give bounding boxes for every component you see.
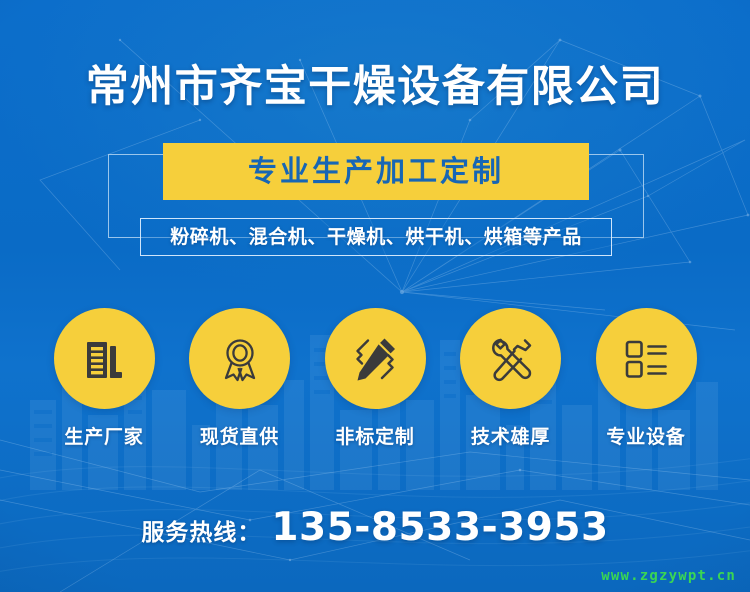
- wrench-hammer-icon: [484, 332, 538, 386]
- feature-circle: [596, 308, 697, 409]
- hotline-number[interactable]: 135-8533-3953: [271, 508, 608, 547]
- company-title-wrap: 常州市齐宝干燥设备有限公司: [0, 66, 750, 109]
- slogan-text: 专业生产加工定制: [248, 157, 504, 186]
- feature-circle: [325, 308, 426, 409]
- feature-circle: [460, 308, 561, 409]
- award-medal-icon: [213, 332, 267, 386]
- list-grid-icon: [619, 332, 673, 386]
- feature-list: 生产厂家 现货直供: [38, 308, 712, 456]
- feature-circle: [189, 308, 290, 409]
- feature-label: 技术雄厚: [471, 428, 550, 447]
- promo-banner: 常州市齐宝干燥设备有限公司 专业生产加工定制 粉碎机、混合机、干燥机、烘干机、烘…: [0, 0, 750, 592]
- pencil-ruler-icon: [348, 332, 402, 386]
- feature-circle: [54, 308, 155, 409]
- company-title: 常州市齐宝干燥设备有限公司: [0, 66, 750, 109]
- headline-block: 专业生产加工定制 粉碎机、混合机、干燥机、烘干机、烘箱等产品: [108, 154, 644, 238]
- feature-item-strong-technology[interactable]: 技术雄厚: [445, 308, 577, 447]
- product-list-box: 粉碎机、混合机、干燥机、烘干机、烘箱等产品: [140, 218, 612, 256]
- feature-label: 非标定制: [335, 428, 414, 447]
- feature-item-professional-equipment[interactable]: 专业设备: [580, 308, 712, 447]
- feature-item-custom-made[interactable]: 非标定制: [309, 308, 441, 447]
- feature-label: 生产厂家: [64, 428, 143, 447]
- site-watermark: www.zgzywpt.cn: [601, 568, 736, 584]
- hotline-label: 服务热线：: [141, 522, 261, 545]
- product-list-text: 粉碎机、混合机、干燥机、烘干机、烘箱等产品: [170, 228, 582, 247]
- feature-item-stock-supply[interactable]: 现货直供: [174, 308, 306, 447]
- factory-building-icon: [77, 332, 131, 386]
- feature-item-manufacturer[interactable]: 生产厂家: [38, 308, 170, 447]
- hotline: 服务热线： 135-8533-3953: [0, 508, 750, 547]
- feature-label: 专业设备: [606, 428, 685, 447]
- slogan-yellow-bar: 专业生产加工定制: [163, 143, 589, 200]
- feature-label: 现货直供: [200, 428, 279, 447]
